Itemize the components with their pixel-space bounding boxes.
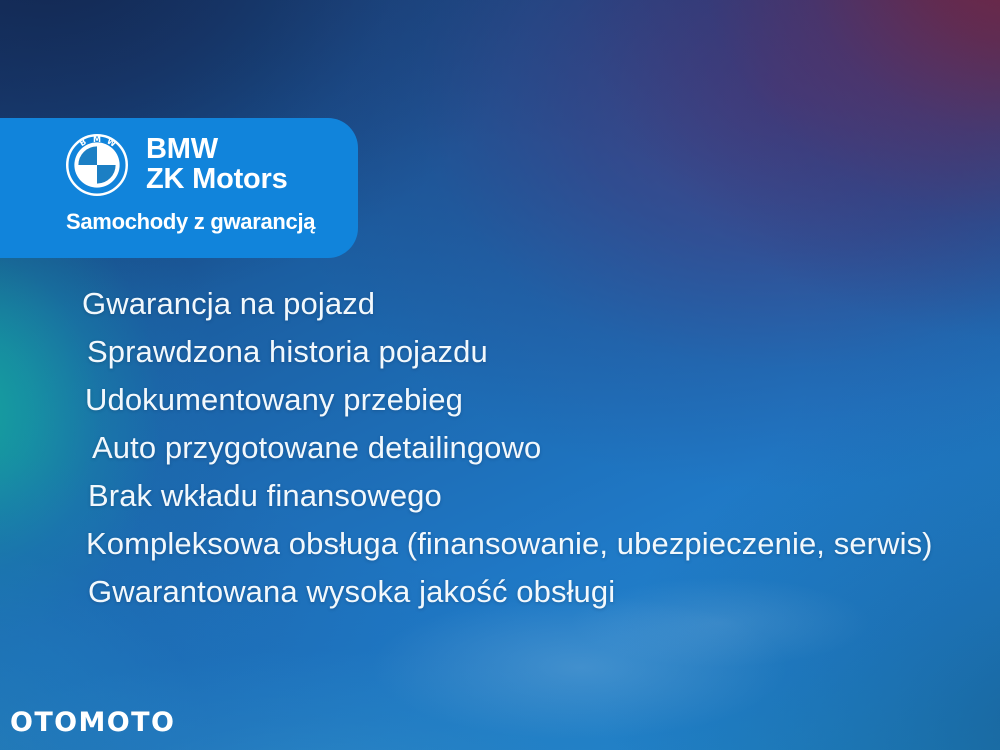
benefit-item: Gwarancja na pojazd <box>76 280 976 328</box>
otomoto-watermark: OTOMOTO <box>10 707 175 738</box>
benefit-item: Kompleksowa obsługa (finansowanie, ubezp… <box>76 520 976 568</box>
benefit-item: Gwarantowana wysoka jakość obsługi <box>76 568 976 616</box>
benefit-item: Sprawdzona historia pojazdu <box>76 328 976 376</box>
bmw-roundel-icon: B M W <box>66 134 128 196</box>
bmw-letter-m: M <box>93 135 101 144</box>
benefit-item: Auto przygotowane detailingowo <box>76 424 976 472</box>
brand-name-line-2: ZK Motors <box>146 165 288 195</box>
brand-badge: B M W BMW ZK Motors Samochody z gwarancj… <box>0 118 358 258</box>
brand-badge-header: B M W BMW ZK Motors <box>0 118 358 198</box>
benefit-item: Udokumentowany przebieg <box>76 376 976 424</box>
brand-name-block: BMW ZK Motors <box>146 135 288 195</box>
promo-banner: B M W BMW ZK Motors Samochody z gwarancj… <box>0 0 1000 750</box>
benefit-item: Brak wkładu finansowego <box>76 472 976 520</box>
brand-name-line-1: BMW <box>146 135 288 165</box>
benefits-list: Gwarancja na pojazd Sprawdzona historia … <box>76 280 976 616</box>
brand-tagline: Samochody z gwarancją <box>0 209 358 235</box>
